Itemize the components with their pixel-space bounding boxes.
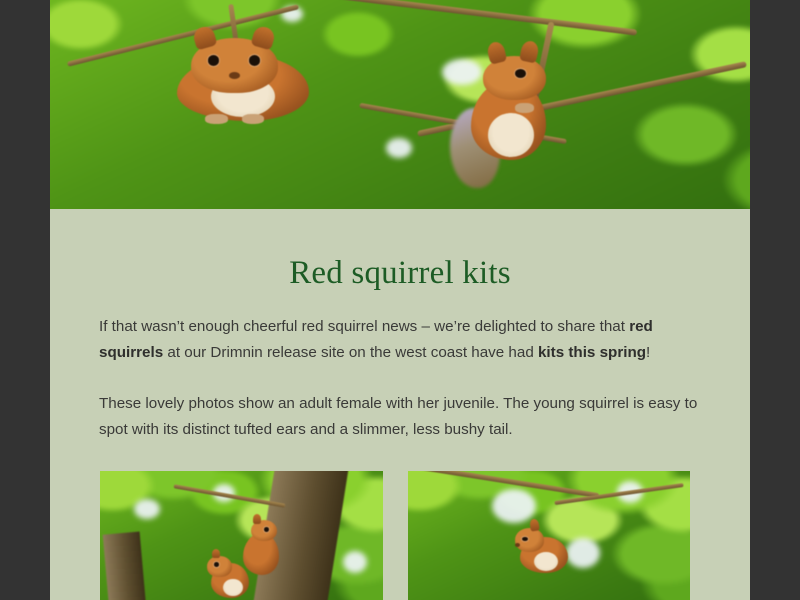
sky-gap: [343, 551, 367, 573]
paragraph-1-text-part-2: at our Drimnin release site on the west …: [163, 344, 538, 361]
squirrel-belly: [223, 579, 243, 597]
squirrel-nose: [515, 543, 520, 547]
squirrel-eye: [522, 537, 528, 542]
squirrel-juvenile: [515, 520, 572, 579]
thumbnail-2-canvas: [408, 471, 691, 600]
squirrel-head: [207, 556, 231, 577]
paragraph-1-text-part-1: If that wasn’t enough cheerful red squir…: [99, 318, 629, 335]
page-title: Red squirrel kits: [50, 255, 750, 292]
squirrel-ear: [253, 514, 261, 523]
article-paragraph-2: These lovely photos show an adult female…: [99, 391, 703, 442]
sky-gap: [492, 489, 536, 523]
squirrel-paw: [515, 103, 534, 113]
page-canvas: Red squirrel kits If that wasn’t enough …: [0, 0, 800, 600]
thumbnail-photo-2[interactable]: [408, 471, 691, 600]
hero-photo-canvas: [50, 0, 750, 209]
squirrel-eye: [214, 562, 219, 567]
article-paragraph-1: If that wasn’t enough cheerful red squir…: [99, 314, 703, 365]
squirrel-head: [515, 528, 544, 552]
paragraph-1-bold-kits-this-spring: kits this spring: [538, 344, 646, 361]
squirrel-belly: [534, 552, 558, 571]
squirrel-ear: [529, 518, 540, 531]
thumbnail-photo-1[interactable]: [100, 471, 383, 600]
content-column: Red squirrel kits If that wasn’t enough …: [50, 0, 750, 600]
squirrel-juvenile: [207, 551, 252, 600]
squirrel-juvenile: [456, 46, 561, 176]
thumbnail-1-canvas: [100, 471, 383, 600]
squirrel-paw: [242, 114, 264, 124]
squirrel-eye: [208, 55, 219, 65]
thumbnail-gallery: [100, 471, 690, 600]
squirrel-eye: [249, 55, 260, 65]
squirrel-belly: [488, 113, 534, 157]
squirrel-paw: [205, 114, 227, 124]
tree-trunk: [102, 531, 145, 600]
paragraph-1-text-part-3: !: [646, 344, 650, 361]
hero-photo: [50, 0, 750, 209]
squirrel-ear: [212, 549, 220, 558]
squirrel-eye: [264, 527, 269, 532]
squirrel-adult: [169, 27, 309, 121]
